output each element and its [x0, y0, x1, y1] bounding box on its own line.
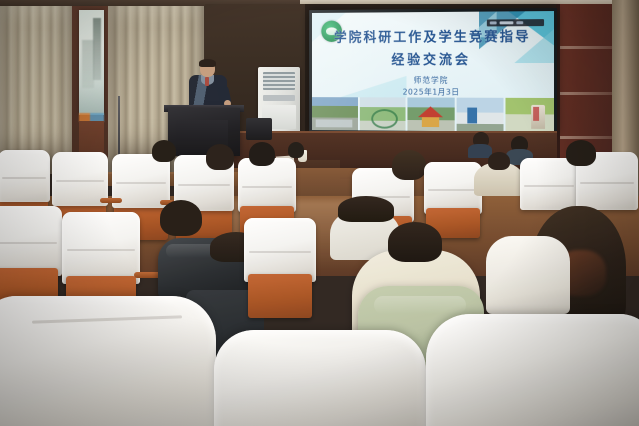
seat-cover[interactable] [486, 236, 570, 314]
seat-cover[interactable] [214, 330, 426, 426]
attendee-hair [338, 196, 394, 222]
attendee [248, 142, 278, 170]
seat-cover[interactable] [62, 212, 140, 284]
attendee-hair [249, 142, 275, 166]
scroll-ink-column [93, 18, 101, 80]
slide-title-line1: 学院科研工作及学生竞赛指导 [312, 27, 554, 49]
curtain-left [0, 6, 72, 174]
scroll-ink-block [82, 40, 94, 88]
armrest [100, 198, 122, 203]
presenter-hair [199, 59, 216, 67]
projection-screen: 学院科研工作及学生竞赛指导 经验交流会 师范学院 2025年1月3日 [309, 8, 557, 135]
conference-hall-photo: 学院科研工作及学生竞赛指导 经验交流会 师范学院 2025年1月3日 [0, 0, 639, 426]
attendee [206, 144, 240, 174]
attendee-hair [388, 222, 442, 262]
projector-toolbar-overlay[interactable] [487, 19, 544, 26]
toolbar-dot-icon [516, 21, 523, 24]
attendee-hair [488, 152, 510, 170]
seat-frame [248, 274, 312, 318]
slide-photo-strip [312, 97, 554, 132]
toolbar-bar-icon [500, 21, 514, 24]
loudspeaker [246, 118, 272, 140]
attendee-hair [206, 144, 234, 170]
campus-gate-photo [312, 97, 358, 130]
campus-sculpture-photo [359, 97, 405, 130]
presentation-slide: 学院科研工作及学生竞赛指导 经验交流会 师范学院 2025年1月3日 [312, 11, 554, 132]
campus-pavilion-photo [408, 97, 455, 131]
seat-cover[interactable] [0, 296, 216, 426]
slide-date: 2025年1月3日 [312, 86, 554, 98]
slide-title-line2: 经验交流会 [312, 48, 554, 68]
calligraphy-scroll [79, 10, 104, 115]
toolbar-dot-icon [490, 21, 497, 24]
seat-cover[interactable] [244, 218, 316, 282]
campus-building-photo [456, 98, 503, 132]
attendee-hair [566, 140, 596, 166]
coat-highlight [374, 296, 466, 314]
seat-cover[interactable] [0, 206, 62, 276]
attendee-hair [152, 140, 176, 162]
seat-cover[interactable] [426, 314, 639, 426]
attendee [566, 140, 602, 170]
attendee [470, 132, 492, 154]
slide-subtitle: 师范学院 [312, 75, 554, 86]
presenter-tie [205, 77, 209, 86]
attendee-fur-hood [474, 152, 524, 194]
ac-control-panel [263, 95, 295, 101]
attendee [160, 200, 206, 240]
attendee-hair [288, 142, 304, 158]
ac-vent-grille [263, 72, 295, 90]
campus-monument-photo [506, 98, 554, 132]
attendee-hair [160, 200, 202, 236]
attendee-hair [392, 150, 426, 180]
seat-cover[interactable] [0, 150, 50, 202]
